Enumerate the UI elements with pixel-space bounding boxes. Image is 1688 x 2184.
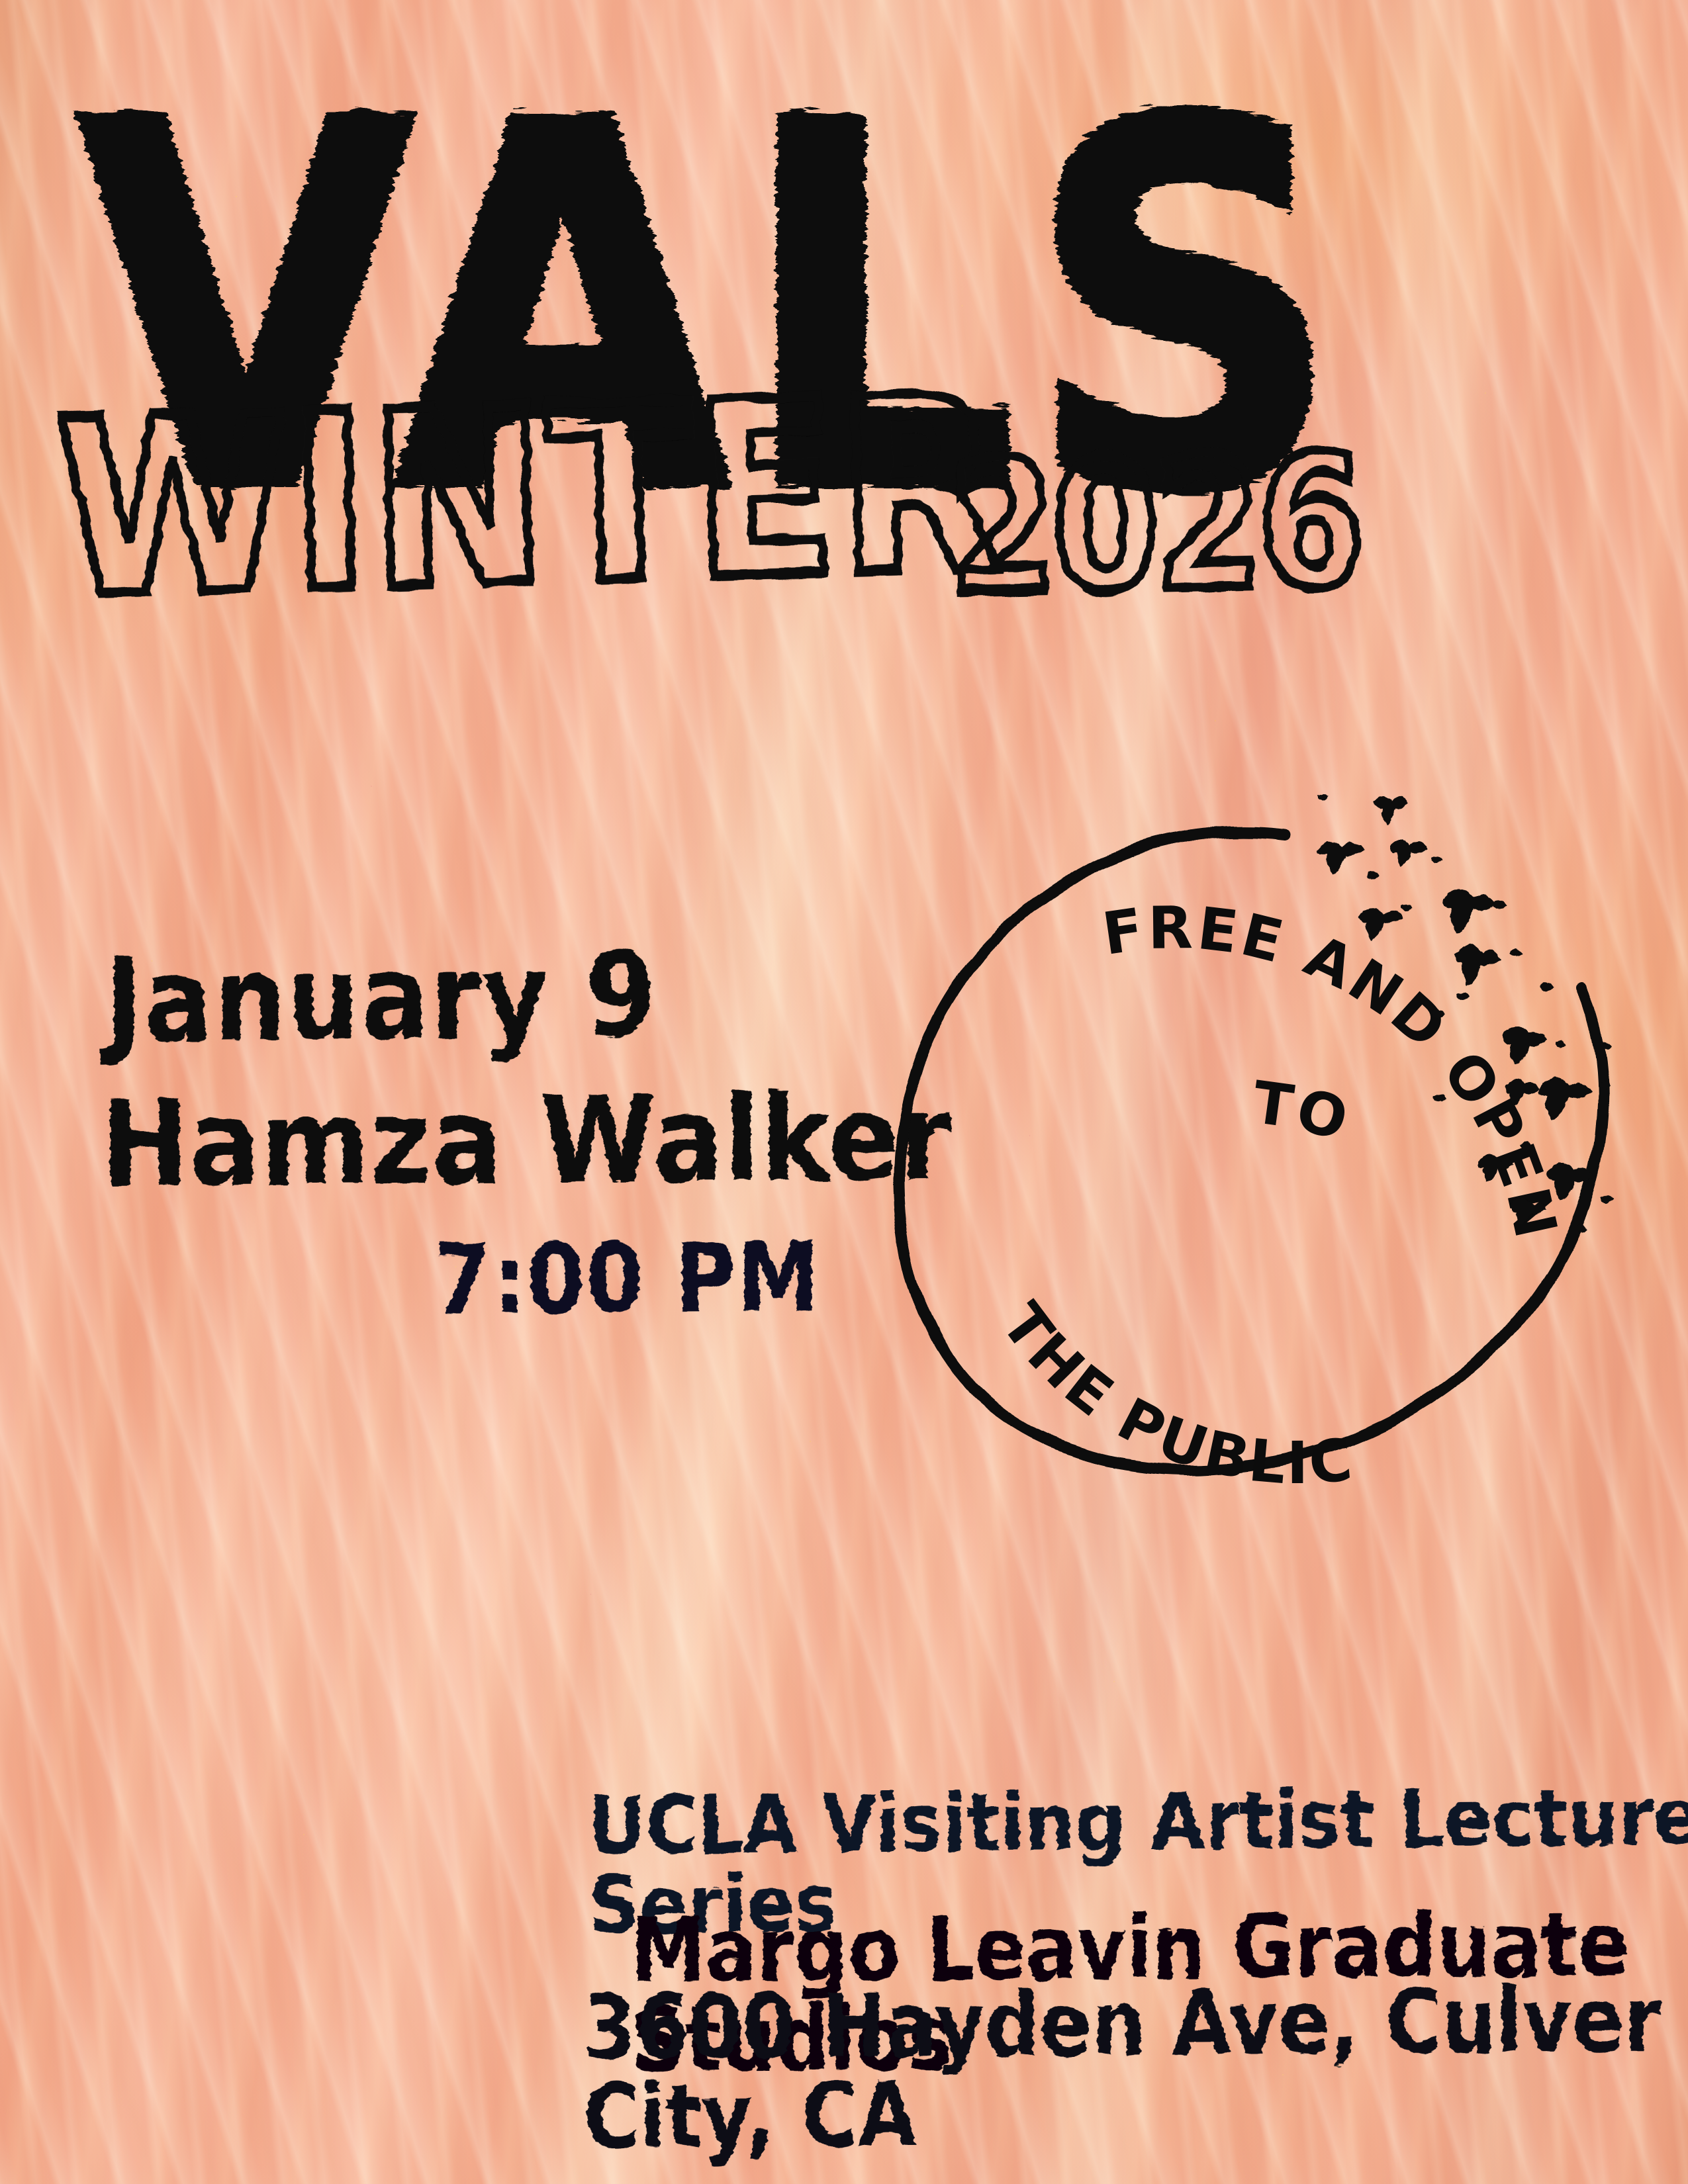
poster-subtitle-winter-2026: WINTER 2026: [60, 433, 1648, 652]
footer-address: 3600 Hayden Ave, Culver City, CA: [583, 1975, 1688, 2162]
bird-shapes: [1316, 794, 1614, 1232]
event-time: 7:00 PM: [434, 1230, 821, 1328]
event-speaker: Hamza Walker: [101, 1079, 953, 1205]
subtitle-year-text: 2026: [948, 430, 1362, 620]
poster-canvas: VALS WINTER 2026 January 9 Hamza Walker …: [0, 0, 1688, 2184]
subtitle-season-text: WINTER: [54, 363, 1004, 632]
stamp-line-3: THE PUBLIC: [988, 1291, 1358, 1497]
event-date: January 9: [105, 936, 658, 1060]
bird-flock-icon: [1278, 774, 1688, 1304]
